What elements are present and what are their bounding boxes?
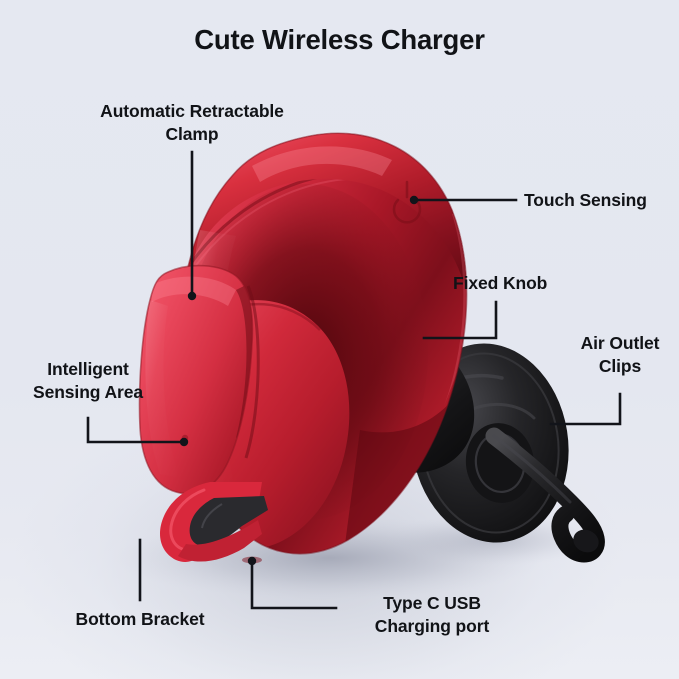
usb-port	[242, 557, 262, 564]
label-fixed-knob: Fixed Knob	[453, 272, 547, 295]
label-type-c-usb-charging-port: Type C USB Charging port	[334, 592, 530, 638]
label-bottom-bracket: Bottom Bracket	[38, 608, 242, 631]
label-line-1: Bottom Bracket	[38, 608, 242, 631]
label-intelligent-sensing-area: Intelligent Sensing Area	[2, 358, 174, 404]
label-air-outlet-clips: Air Outlet Clips	[556, 332, 679, 378]
label-line-1: Touch Sensing	[524, 189, 647, 212]
label-line-1: Fixed Knob	[453, 272, 547, 295]
label-line-2: Clips	[556, 355, 679, 378]
page-title: Cute Wireless Charger	[0, 24, 679, 56]
label-line-2: Clamp	[14, 123, 370, 146]
label-automatic-retractable-clamp: Automatic Retractable Clamp	[14, 100, 370, 146]
label-line-2: Charging port	[334, 615, 530, 638]
label-touch-sensing: Touch Sensing	[524, 189, 647, 212]
label-line-2: Sensing Area	[2, 381, 174, 404]
sensor-spot	[182, 435, 188, 441]
label-line-1: Automatic Retractable	[14, 100, 370, 123]
label-line-1: Type C USB	[334, 592, 530, 615]
product-diagram: Cute Wireless Charger Automatic Retracta…	[0, 0, 679, 679]
label-line-1: Air Outlet	[556, 332, 679, 355]
label-line-1: Intelligent	[2, 358, 174, 381]
